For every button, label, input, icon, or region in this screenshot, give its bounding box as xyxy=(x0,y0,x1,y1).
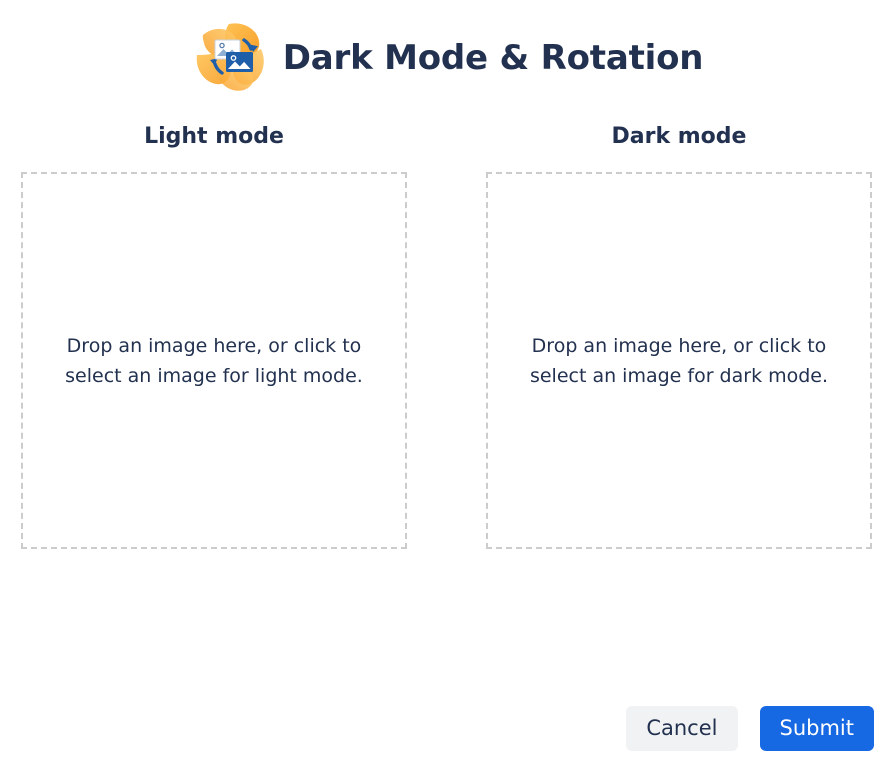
dark-mode-rotation-logo-icon xyxy=(191,19,269,97)
footer-actions: Cancel Submit xyxy=(0,705,894,751)
app-header: Dark Mode & Rotation xyxy=(0,18,894,98)
column-dark-mode: Dark mode Drop an image here, or click t… xyxy=(486,124,872,549)
submit-button[interactable]: Submit xyxy=(760,706,875,751)
dropzone-light-mode[interactable]: Drop an image here, or click to select a… xyxy=(21,172,407,549)
mode-columns: Light mode Drop an image here, or click … xyxy=(21,124,872,549)
dropzone-light-mode-label: Drop an image here, or click to select a… xyxy=(51,331,377,391)
cancel-button[interactable]: Cancel xyxy=(626,706,737,751)
heading-light-mode: Light mode xyxy=(144,124,284,150)
dropzone-dark-mode[interactable]: Drop an image here, or click to select a… xyxy=(486,172,872,549)
dropzone-dark-mode-label: Drop an image here, or click to select a… xyxy=(516,331,842,391)
heading-dark-mode: Dark mode xyxy=(612,124,747,150)
column-light-mode: Light mode Drop an image here, or click … xyxy=(21,124,407,549)
page-title: Dark Mode & Rotation xyxy=(283,41,704,75)
